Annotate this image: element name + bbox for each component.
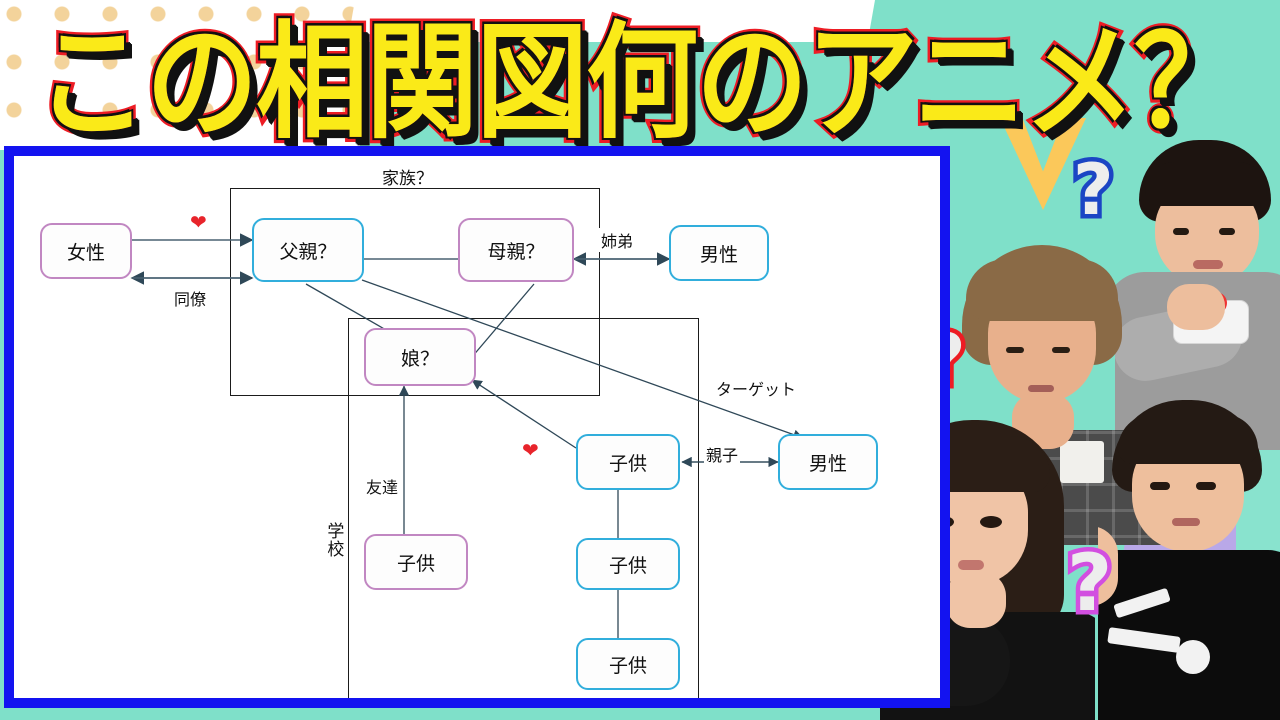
- edge-label-target: ターゲット: [714, 376, 798, 400]
- node-man-target[interactable]: 男性: [778, 434, 878, 490]
- node-father[interactable]: 父親？: [252, 218, 364, 282]
- edge-label-parent-child: 親子: [704, 442, 740, 466]
- edge-label-friend: 友達: [364, 474, 400, 498]
- node-child-3[interactable]: 子供: [576, 638, 680, 690]
- node-child-2[interactable]: 子供: [576, 538, 680, 590]
- heart-icon-love-1: ❤: [190, 212, 207, 232]
- background-white-skew: [348, 0, 875, 42]
- question-mark-purple-icon: ?: [1067, 545, 1112, 623]
- node-daughter[interactable]: 娘？: [364, 328, 476, 386]
- edge-label-siblings: 姉弟: [599, 228, 635, 252]
- node-mother[interactable]: 母親？: [458, 218, 574, 282]
- relationship-diagram: 家族？ 学校: [14, 156, 940, 698]
- node-man-brother[interactable]: 男性: [669, 225, 769, 281]
- node-child-1[interactable]: 子供: [576, 434, 680, 490]
- person-front-right: [1098, 400, 1280, 720]
- screenshot-stage: ? ? ? この相関図何のアニメ？ 家族？ 学校: [0, 0, 1280, 720]
- background-dot-pattern: [0, 0, 360, 150]
- heart-icon-love-2: ❤: [522, 440, 539, 460]
- edge-label-colleague: 同僚: [172, 286, 208, 310]
- node-child-friend[interactable]: 子供: [364, 534, 468, 590]
- question-mark-blue-icon: ?: [1073, 155, 1114, 225]
- node-woman-1[interactable]: 女性: [40, 223, 132, 279]
- diagram-blue-frame: 家族？ 学校: [4, 146, 950, 708]
